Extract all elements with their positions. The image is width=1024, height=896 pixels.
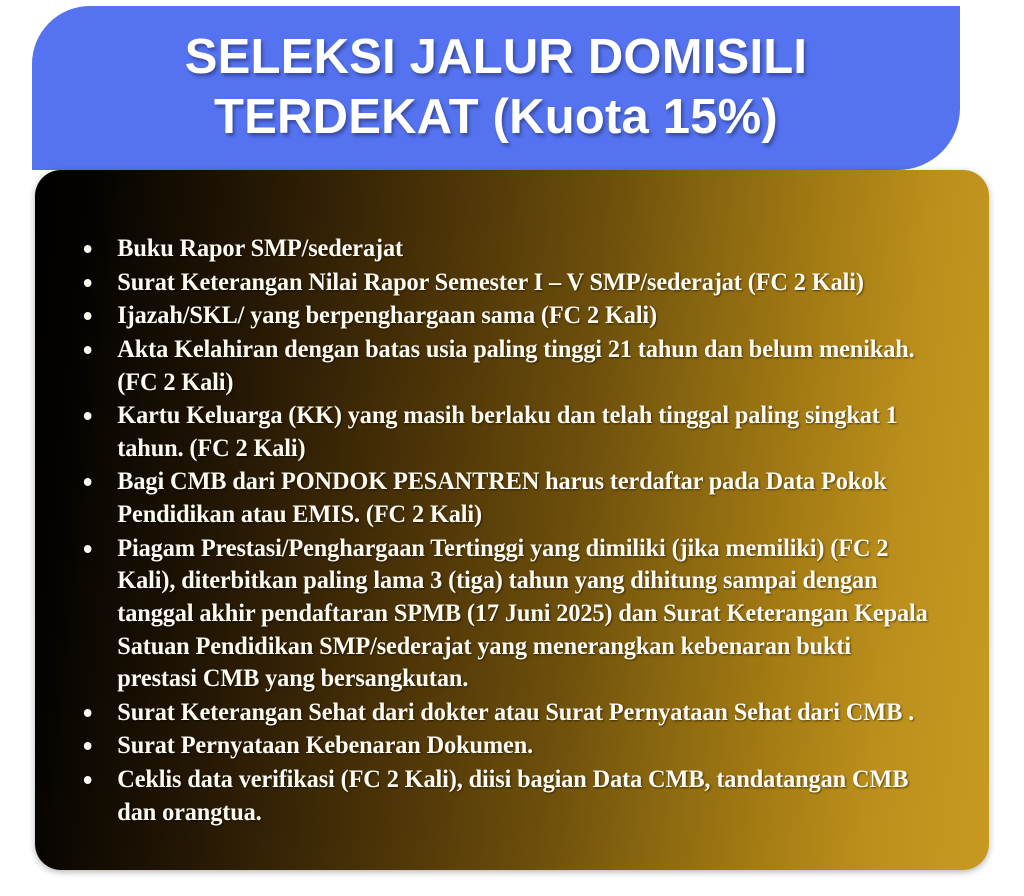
list-item: Surat Keterangan Sehat dari dokter atau … — [81, 696, 931, 729]
bullet-dot-icon — [84, 312, 92, 320]
list-item-label: Surat Keterangan Sehat dari dokter atau … — [117, 696, 931, 729]
list-item: Bagi CMB dari PONDOK PESANTREN harus ter… — [81, 465, 931, 530]
bullet-dot-icon — [84, 545, 92, 553]
list-item: Akta Kelahiran dengan batas usia paling … — [81, 333, 931, 398]
requirements-card: Buku Rapor SMP/sederajatSurat Keterangan… — [35, 170, 989, 870]
bullet-dot-icon — [84, 478, 92, 486]
list-item: Ceklis data verifikasi (FC 2 Kali), diis… — [81, 763, 931, 828]
list-item: Ijazah/SKL/ yang berpenghargaan sama (FC… — [81, 299, 931, 332]
list-item-label: Piagam Prestasi/Penghargaan Tertinggi ya… — [117, 532, 931, 695]
requirements-list: Buku Rapor SMP/sederajatSurat Keterangan… — [35, 170, 989, 828]
list-item: Piagam Prestasi/Penghargaan Tertinggi ya… — [81, 532, 931, 695]
list-item: Buku Rapor SMP/sederajat — [81, 232, 931, 265]
list-item-label: Surat Pernyataan Kebenaran Dokumen. — [117, 729, 931, 762]
page-title: SELEKSI JALUR DOMISILI TERDEKAT (Kuota 1… — [185, 28, 807, 148]
poster-root: SELEKSI JALUR DOMISILI TERDEKAT (Kuota 1… — [0, 0, 1024, 896]
header-banner: SELEKSI JALUR DOMISILI TERDEKAT (Kuota 1… — [32, 6, 960, 170]
bullet-dot-icon — [84, 742, 92, 750]
list-item: Surat Pernyataan Kebenaran Dokumen. — [81, 729, 931, 762]
bullet-dot-icon — [84, 245, 92, 253]
list-item-label: Ceklis data verifikasi (FC 2 Kali), diis… — [117, 763, 931, 828]
list-item-label: Kartu Keluarga (KK) yang masih berlaku d… — [117, 399, 931, 464]
list-item: Surat Keterangan Nilai Rapor Semester I … — [81, 266, 931, 299]
list-item-label: Akta Kelahiran dengan batas usia paling … — [117, 333, 931, 398]
bullet-dot-icon — [84, 709, 92, 717]
list-item-label: Buku Rapor SMP/sederajat — [117, 232, 931, 265]
list-item-label: Surat Keterangan Nilai Rapor Semester I … — [117, 266, 931, 299]
bullet-dot-icon — [84, 412, 92, 420]
list-item-label: Ijazah/SKL/ yang berpenghargaan sama (FC… — [117, 299, 931, 332]
list-item-label: Bagi CMB dari PONDOK PESANTREN harus ter… — [117, 465, 931, 530]
bullet-dot-icon — [84, 279, 92, 287]
list-item: Kartu Keluarga (KK) yang masih berlaku d… — [81, 399, 931, 464]
bullet-dot-icon — [84, 776, 92, 784]
bullet-dot-icon — [84, 346, 92, 354]
